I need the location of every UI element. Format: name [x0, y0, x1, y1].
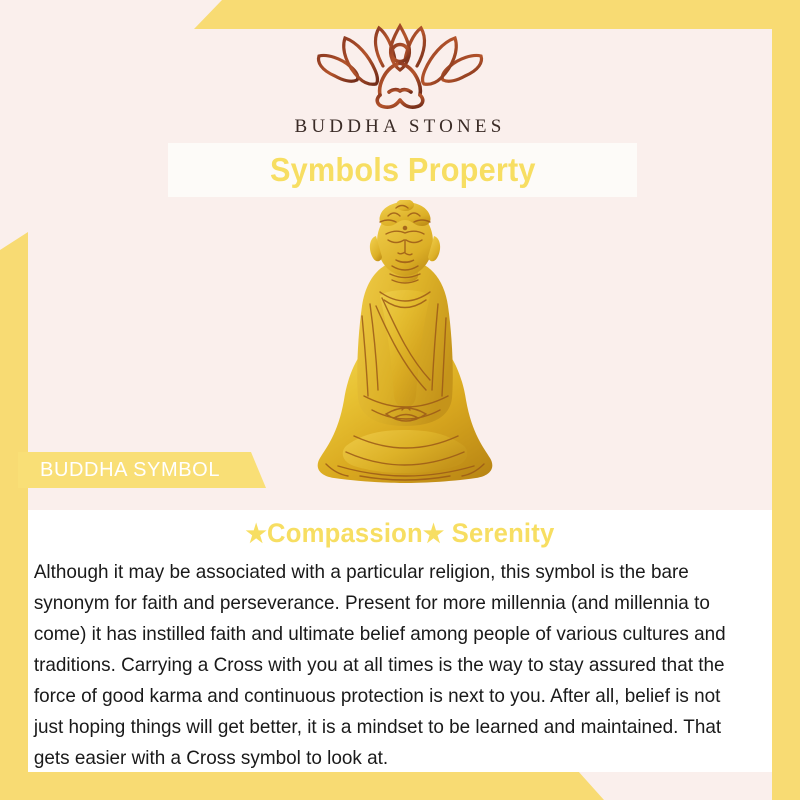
buddha-symbol-tag: BUDDHA SYMBOL	[18, 452, 266, 488]
page-title: Symbols Property	[270, 151, 536, 189]
frame-left-accent	[0, 232, 28, 800]
buddha-symbol-tag-label: BUDDHA SYMBOL	[18, 459, 220, 482]
brand-wordmark: BUDDHA STONES	[0, 116, 800, 138]
title-banner: Symbols Property	[168, 143, 637, 197]
star-icon-second: ★	[423, 520, 444, 548]
star-icon-first: ★	[246, 520, 267, 548]
frame-bottom-accent	[0, 771, 800, 800]
brand-header: BUDDHA STONES	[0, 20, 800, 138]
content-panel: ★Compassion★ Serenity Although it may be…	[28, 510, 772, 772]
keyword-compassion: Compassion	[267, 518, 423, 548]
seated-buddha-statue-icon	[310, 200, 500, 492]
keyword-serenity: Serenity	[452, 518, 555, 548]
keywords-heading: ★Compassion★ Serenity	[47, 518, 754, 549]
poster-root: BUDDHA STONES Symbols Property	[0, 0, 800, 800]
lotus-meditation-icon	[0, 20, 800, 112]
body-paragraph: Although it may be associated with a par…	[28, 557, 750, 774]
